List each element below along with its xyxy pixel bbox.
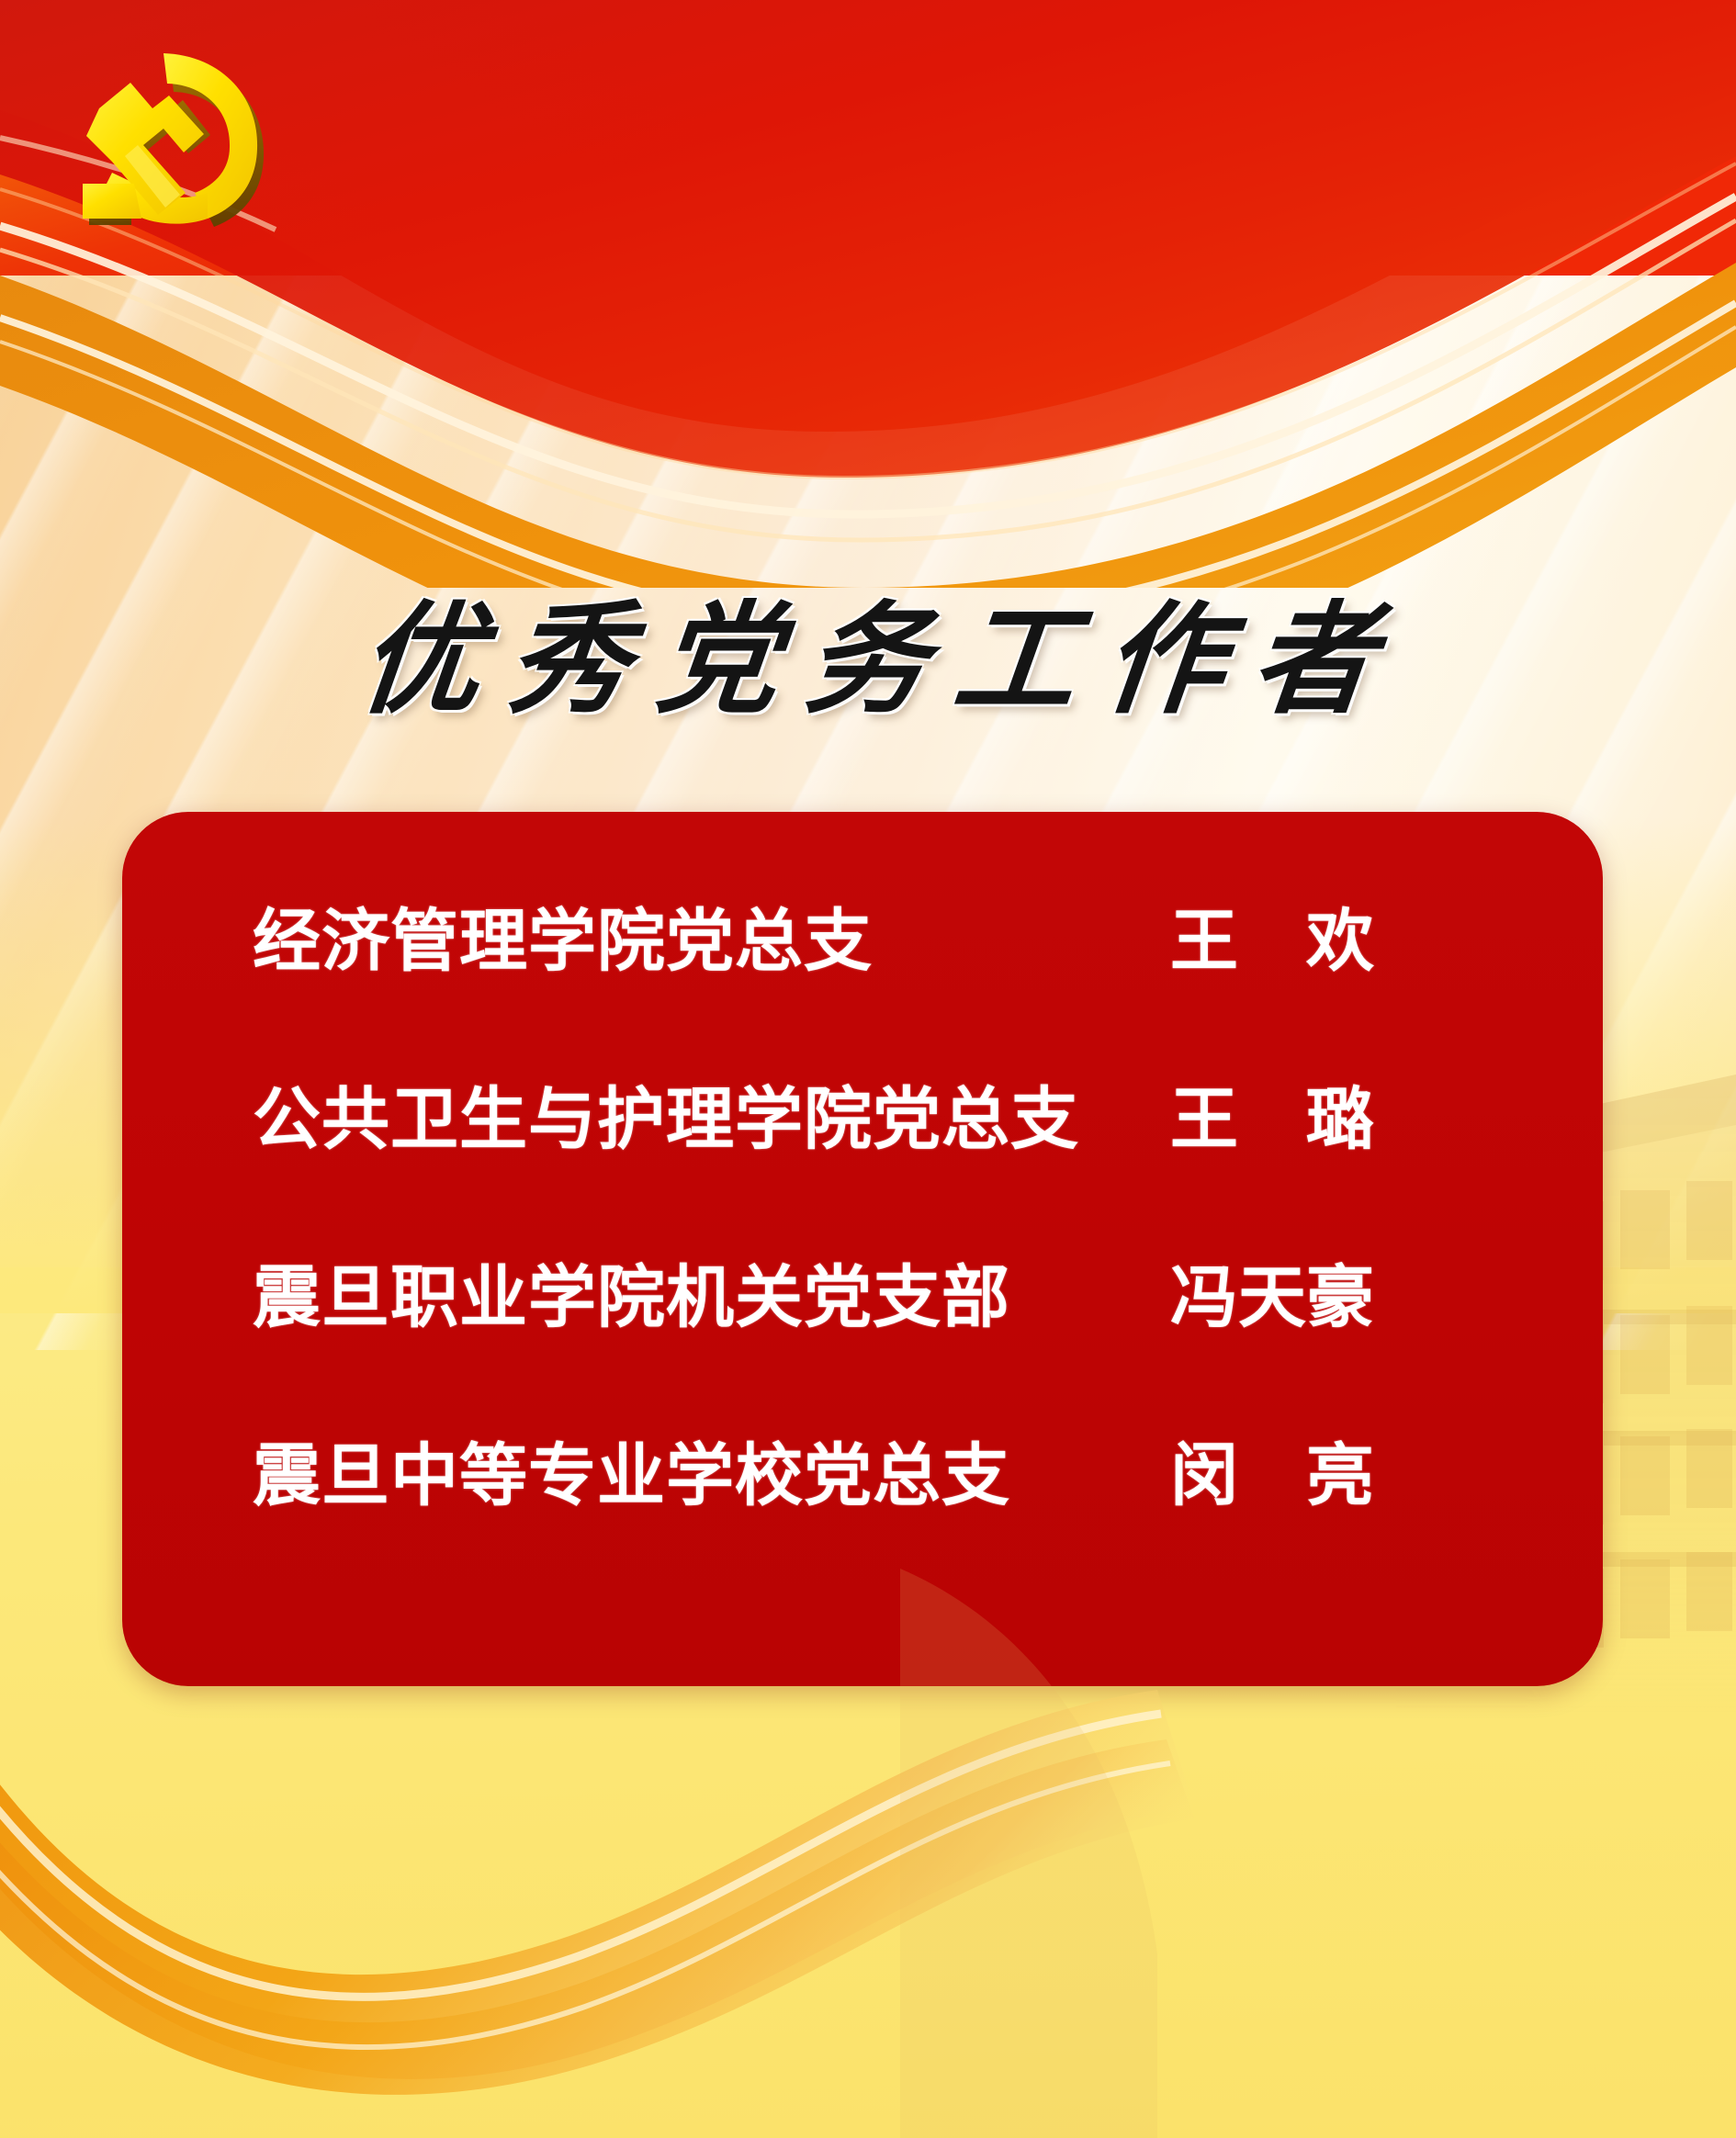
hammer-and-sickle-icon <box>42 39 274 231</box>
honoree-name: 闵 亮 <box>1024 1442 1520 1510</box>
honoree-name: 王 璐 <box>1024 1086 1520 1153</box>
table-row: 公共卫生与护理学院党总支 王 璐 <box>122 1086 1603 1264</box>
organization-name: 震旦职业学院机关党支部 <box>253 1264 1024 1332</box>
honoree-rows: 经济管理学院党总支 王 欢 公共卫生与护理学院党总支 王 璐 震旦职业学院机关党… <box>122 907 1603 1620</box>
poster-title: 优秀党务工作者 <box>324 562 1412 737</box>
honoree-list-card: 经济管理学院党总支 王 欢 公共卫生与护理学院党总支 王 璐 震旦职业学院机关党… <box>122 812 1603 1686</box>
honoree-name: 冯天豪 <box>1024 1264 1520 1332</box>
poster-title-wrap: 优秀党务工作者 <box>0 562 1736 737</box>
table-row: 震旦职业学院机关党支部 冯天豪 <box>122 1264 1603 1442</box>
organization-name: 经济管理学院党总支 <box>253 907 1024 975</box>
table-row: 经济管理学院党总支 王 欢 <box>122 907 1603 1086</box>
honor-roll-poster: 优秀党务工作者 经济管理学院党总支 王 欢 公共卫生与护理学院党总支 王 璐 震… <box>0 0 1736 2138</box>
organization-name: 公共卫生与护理学院党总支 <box>253 1086 1024 1153</box>
bottom-wave-band <box>0 1569 1736 2138</box>
honoree-name: 王 欢 <box>1024 907 1520 975</box>
organization-name: 震旦中等专业学校党总支 <box>253 1442 1024 1510</box>
